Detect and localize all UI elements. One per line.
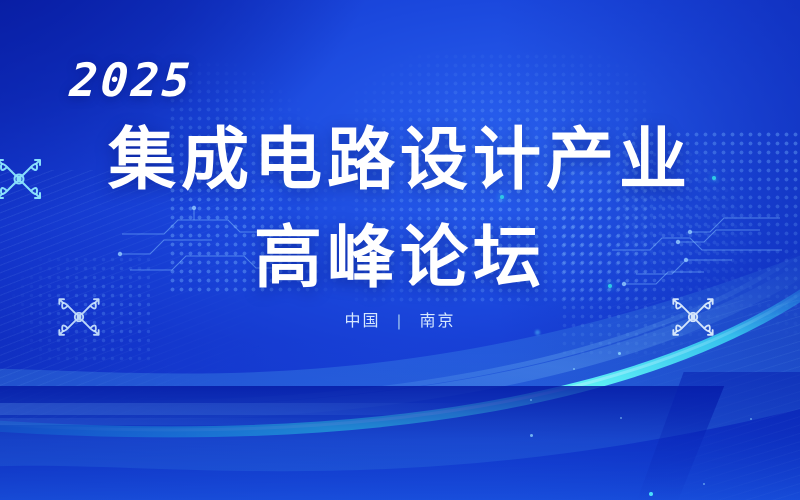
event-title-line-2: 高峰论坛 bbox=[0, 224, 800, 292]
location-country: 中国 bbox=[344, 313, 380, 330]
conference-banner: 2025 集成电路设计产业 高峰论坛 中国 | 南京 bbox=[0, 0, 800, 500]
event-title-line-1: 集成电路设计产业 bbox=[0, 126, 800, 194]
event-location: 中国 | 南京 bbox=[0, 307, 800, 331]
location-city: 南京 bbox=[420, 313, 456, 330]
event-year: 2025 bbox=[68, 53, 195, 107]
location-separator: | bbox=[397, 313, 403, 331]
banner-text-content: 2025 集成电路设计产业 高峰论坛 中国 | 南京 bbox=[0, 0, 800, 500]
